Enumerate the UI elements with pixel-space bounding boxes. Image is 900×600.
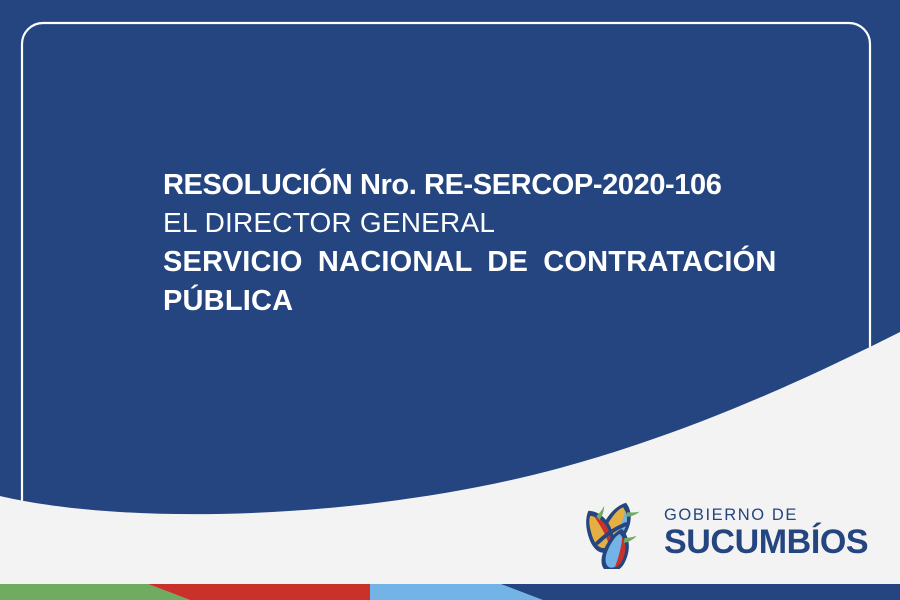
logo-wordmark: GOBIERNO DE SUCUMBÍOS — [664, 504, 868, 560]
entity-name-line-2: PÚBLICA — [163, 282, 823, 321]
director-general-line: EL DIRECTOR GENERAL — [163, 203, 823, 243]
bottom-strip-navy-overlay — [0, 584, 900, 600]
sucumbios-leaves-emblem-icon — [574, 495, 652, 569]
title-block: RESOLUCIÓN Nro. RE-SERCOP-2020-106 EL DI… — [163, 168, 823, 320]
slide-canvas: RESOLUCIÓN Nro. RE-SERCOP-2020-106 EL DI… — [0, 0, 900, 600]
logo-province-name: SUCUMBÍOS — [664, 525, 868, 560]
strip-navy-shown — [501, 584, 900, 600]
resolution-number-line: RESOLUCIÓN Nro. RE-SERCOP-2020-106 — [163, 168, 823, 203]
logo-eyebrow-text: GOBIERNO DE — [664, 506, 868, 524]
gobierno-sucumbios-logo: GOBIERNO DE SUCUMBÍOS — [574, 495, 868, 569]
entity-name-line-1: SERVICIO NACIONAL DE CONTRATACIÓN — [163, 243, 823, 282]
